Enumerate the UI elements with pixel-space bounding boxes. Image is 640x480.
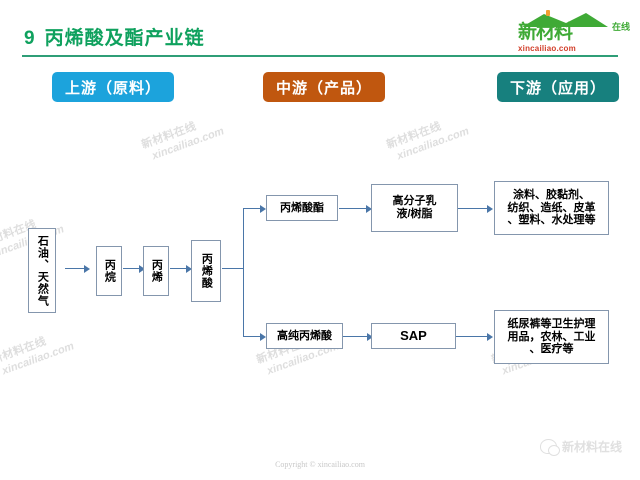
edge-acrylic-bus bbox=[222, 268, 244, 269]
node-propane[interactable]: 丙烷 bbox=[96, 246, 122, 296]
node-polymer-emulsion[interactable]: 高分子乳 液/树脂 bbox=[371, 184, 458, 232]
node-feedstock-label: 石油、天然气 bbox=[34, 235, 51, 307]
node-high-purity-acrylic[interactable]: 高纯丙烯酸 bbox=[266, 323, 343, 349]
edge-split-bus bbox=[243, 208, 244, 337]
header-divider bbox=[22, 55, 618, 57]
banner-downstream: 下游（应用） bbox=[497, 72, 619, 102]
node-feedstock[interactable]: 石油、天然气 bbox=[28, 228, 56, 313]
node-high-purity-acrylic-label: 高纯丙烯酸 bbox=[275, 330, 334, 343]
slide-number: 9 bbox=[24, 28, 36, 49]
node-acrylic-acid[interactable]: 丙烯酸 bbox=[191, 240, 221, 302]
node-propane-label: 丙烷 bbox=[101, 259, 118, 283]
node-acrylate-ester-label: 丙烯酸酯 bbox=[278, 202, 326, 215]
node-polymer-emulsion-line2: 液/树脂 bbox=[396, 208, 432, 220]
copyright-text: Copyright © xincailiao.com bbox=[0, 460, 640, 469]
node-sap[interactable]: SAP bbox=[371, 323, 456, 349]
edge-hpacrylic-sap bbox=[343, 336, 370, 337]
banner-upstream: 上游（原料） bbox=[52, 72, 174, 102]
node-applications-hygiene-line1: 纸尿裤等卫生护理 bbox=[508, 318, 596, 330]
arrowhead bbox=[487, 205, 493, 213]
edge-emulsion-appstop bbox=[458, 208, 490, 209]
node-applications-hygiene[interactable]: 纸尿裤等卫生护理 用品，农林、工业 、医疗等 bbox=[494, 310, 609, 364]
node-applications-coatings-line1: 涂料、胶黏剂、 bbox=[513, 189, 590, 201]
banner-midstream-label: 中游（产品） bbox=[276, 77, 372, 98]
edge-sap-appsbottom bbox=[456, 336, 490, 337]
logo-dot-icon bbox=[546, 10, 550, 16]
slide-header: 9丙烯酸及酯产业链 新材料 在线 xincailiao.com bbox=[0, 0, 640, 60]
node-applications-coatings-line3: 、塑料、水处理等 bbox=[508, 214, 596, 226]
wechat-brand: 新材料在线 bbox=[540, 438, 622, 455]
logo-brand-cn: 新材料 bbox=[518, 23, 572, 42]
banner-upstream-label: 上游（原料） bbox=[65, 77, 161, 98]
banner-downstream-label: 下游（应用） bbox=[510, 77, 606, 98]
logo-brand-suffix: 在线 bbox=[612, 22, 630, 32]
title-text: 丙烯酸及酯产业链 bbox=[45, 28, 205, 49]
node-propylene-label: 丙烯 bbox=[148, 259, 165, 283]
watermark: 新材料在线 xincailiao.com bbox=[0, 327, 76, 381]
node-acrylate-ester[interactable]: 丙烯酸酯 bbox=[266, 195, 338, 221]
node-propylene[interactable]: 丙烯 bbox=[143, 246, 169, 296]
node-sap-label: SAP bbox=[398, 329, 429, 344]
watermark: 新材料在线 xincailiao.com bbox=[140, 112, 226, 166]
edge-ester-emulsion bbox=[339, 208, 369, 209]
brand-logo: 新材料 在线 xincailiao.com bbox=[514, 13, 632, 53]
wechat-label: 新材料在线 bbox=[562, 438, 622, 455]
watermark: 新材料在线 xincailiao.com bbox=[385, 112, 471, 166]
wechat-icon bbox=[540, 439, 557, 454]
node-applications-coatings-line2: 纺织、造纸、皮革 bbox=[508, 202, 596, 214]
arrowhead bbox=[487, 333, 493, 341]
logo-domain: xincailiao.com bbox=[518, 44, 576, 53]
slide-canvas: 新材料在线 xincailiao.com 新材料在线 xincailiao.co… bbox=[0, 0, 640, 480]
node-applications-coatings[interactable]: 涂料、胶黏剂、 纺织、造纸、皮革 、塑料、水处理等 bbox=[494, 181, 609, 235]
banner-midstream: 中游（产品） bbox=[263, 72, 385, 102]
node-acrylic-acid-label: 丙烯酸 bbox=[198, 253, 215, 289]
arrowhead bbox=[84, 265, 90, 273]
page-title: 9丙烯酸及酯产业链 bbox=[24, 23, 205, 50]
edge-feedstock-propane bbox=[65, 268, 85, 269]
node-polymer-emulsion-line1: 高分子乳 bbox=[393, 195, 437, 207]
node-applications-hygiene-line3: 、医疗等 bbox=[530, 343, 574, 355]
node-applications-hygiene-line2: 用品，农林、工业 bbox=[508, 331, 596, 343]
